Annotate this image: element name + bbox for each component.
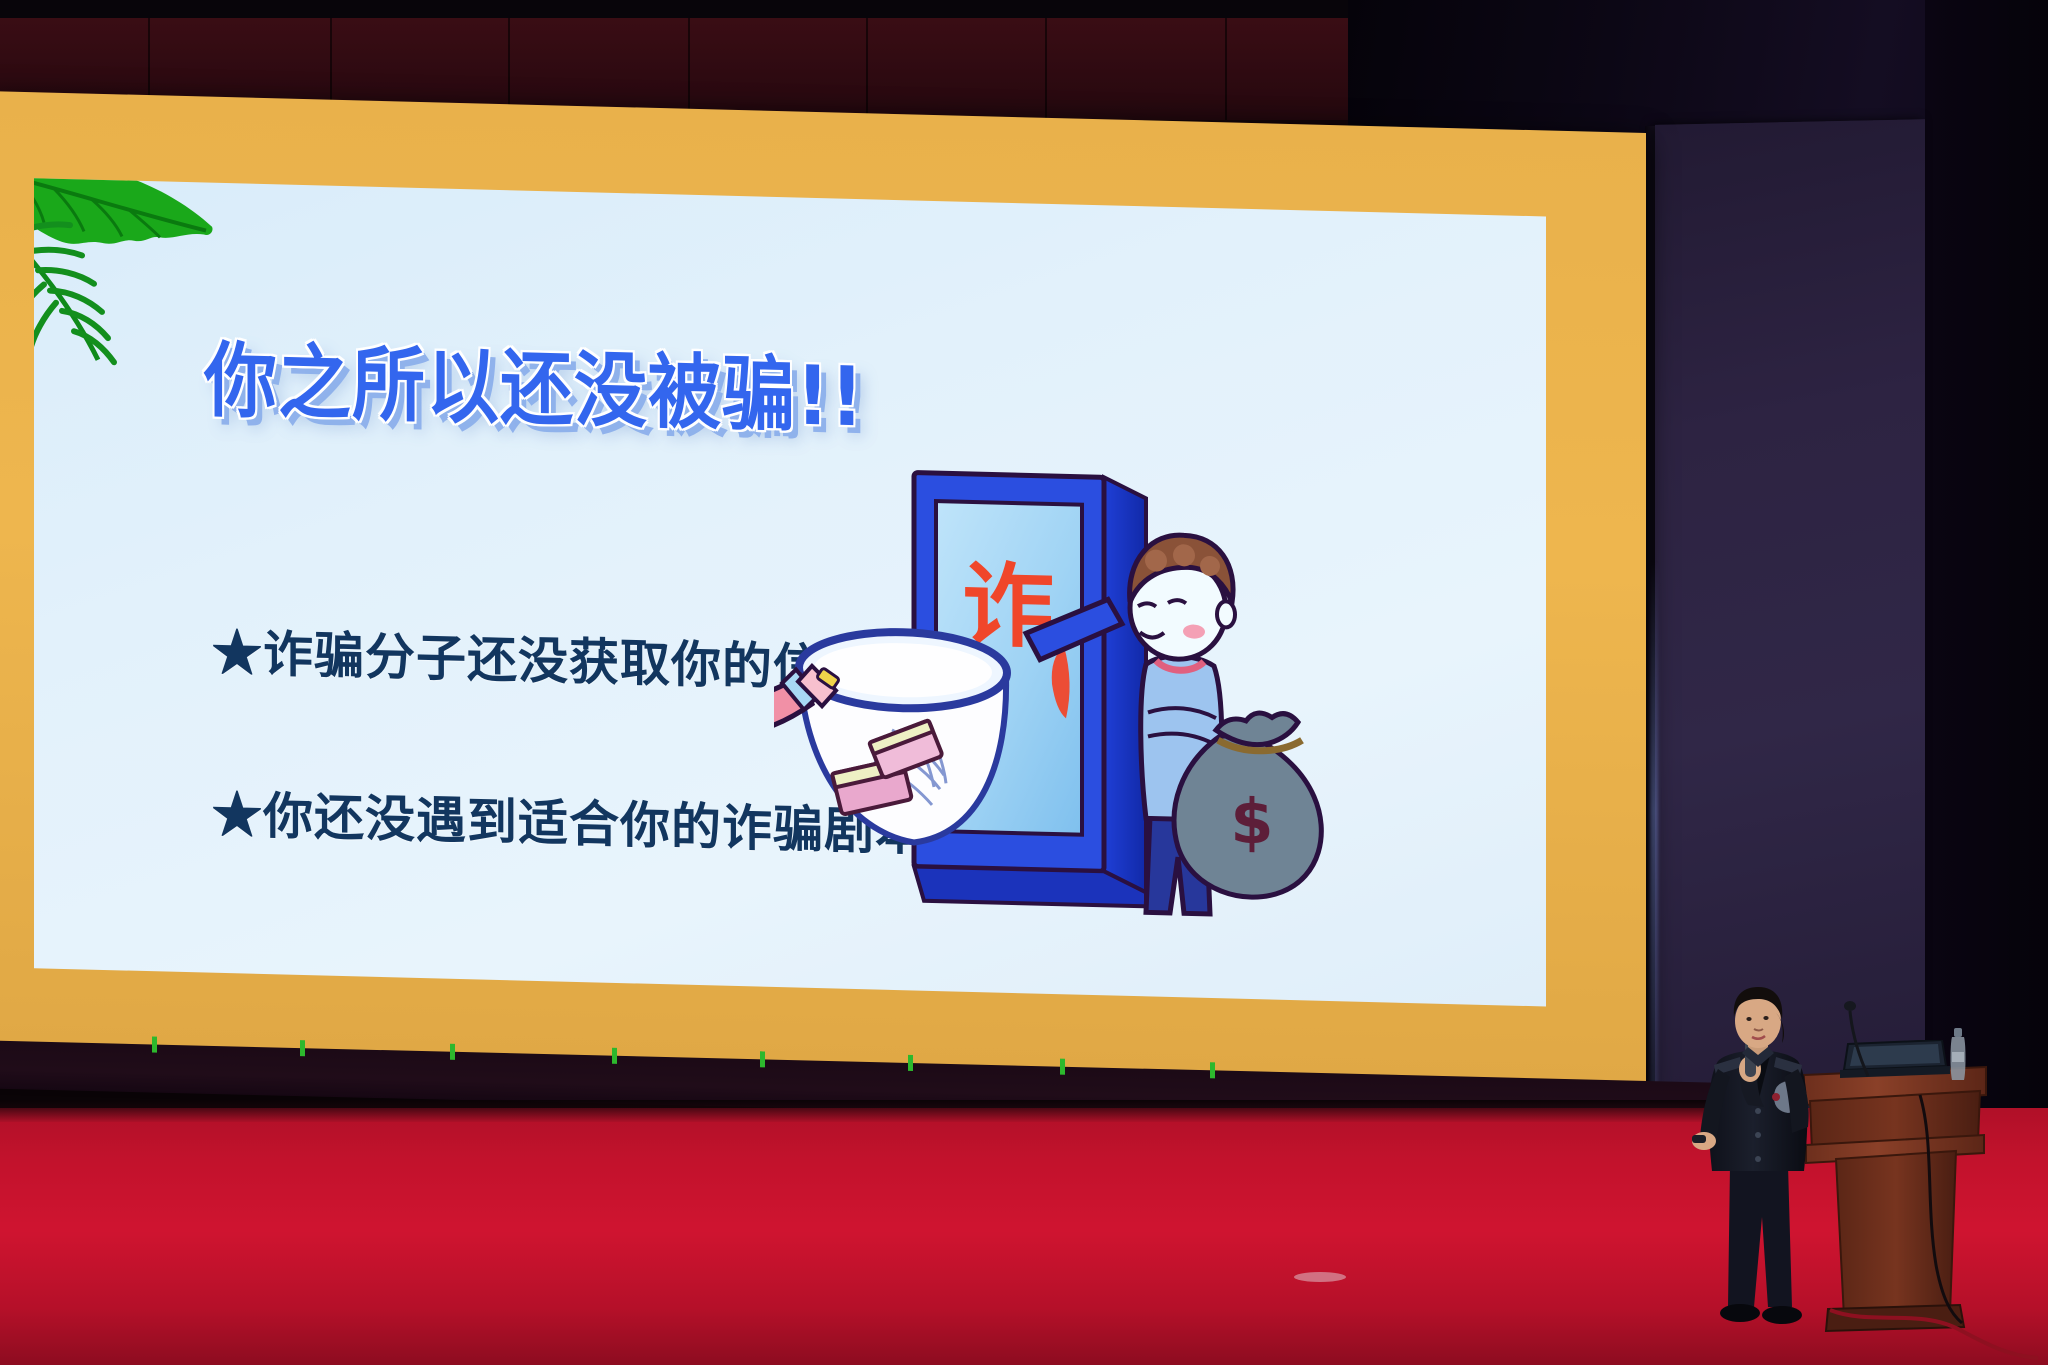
projection-screen-frame: 你之所以还没被骗!! ★诈骗分子还没获取你的信息 ★你还没遇到适合你的诈骗剧本 — [0, 91, 1646, 1093]
auditorium-scene: 你之所以还没被骗!! ★诈骗分子还没获取你的信息 ★你还没遇到适合你的诈骗剧本 — [0, 0, 2048, 1365]
slide-title: 你之所以还没被骗!! — [204, 315, 865, 450]
projection-screen-surface: 你之所以还没被骗!! ★诈骗分子还没获取你的信息 ★你还没遇到适合你的诈骗剧本 — [34, 178, 1546, 1006]
presenter — [1688, 985, 1838, 1325]
scam-scooping-money-illustration: 诈 — [774, 427, 1474, 1005]
right-wall-panel-inner — [1655, 119, 1925, 1125]
microphone-stand — [1834, 1000, 1894, 1080]
right-wall-panel-outer — [1925, 0, 2048, 1130]
stage-floor-shadow — [0, 1100, 1740, 1122]
floor-marker — [1290, 1265, 1350, 1289]
floor-cable — [1830, 1300, 2040, 1365]
svg-text:$: $ — [1230, 784, 1273, 858]
water-bottle[interactable] — [1948, 1028, 1968, 1082]
presentation-slide: 你之所以还没被骗!! ★诈骗分子还没获取你的信息 ★你还没遇到适合你的诈骗剧本 — [34, 178, 1546, 1006]
wall-light-strip — [1650, 560, 1658, 1120]
